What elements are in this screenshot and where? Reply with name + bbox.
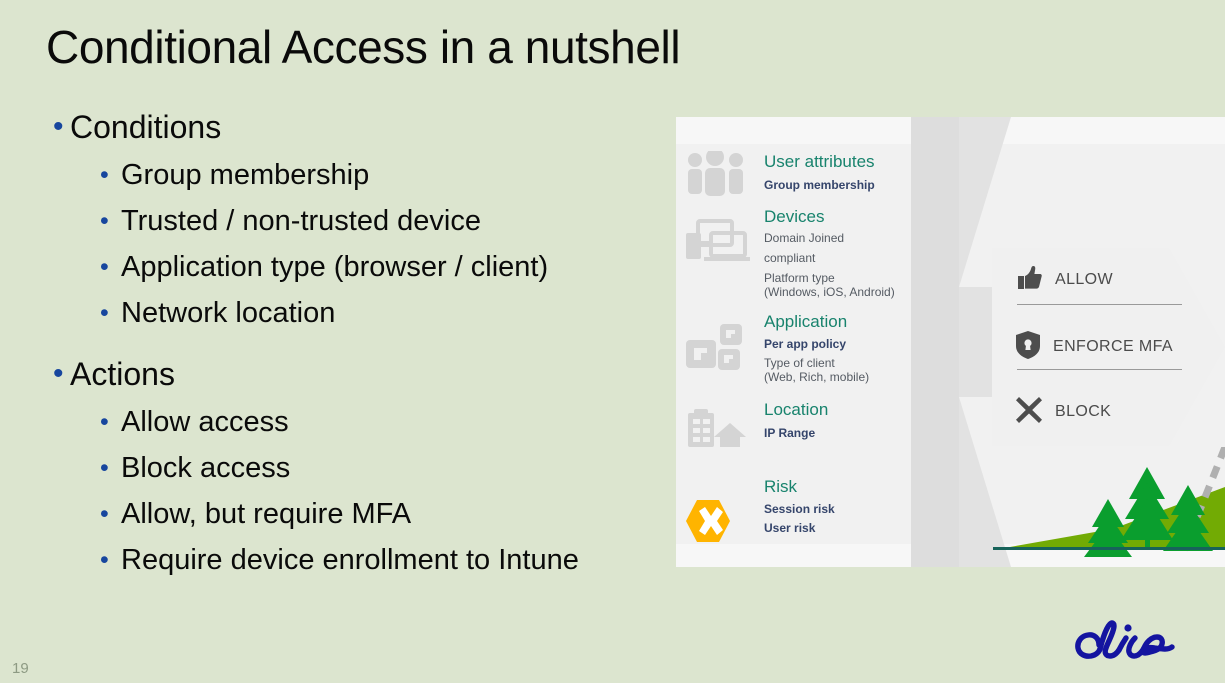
location-icon xyxy=(684,407,748,456)
list-item: • Group membership xyxy=(94,153,704,198)
bullet-dot-icon: • xyxy=(94,245,121,290)
bullet-dot-icon: • xyxy=(94,199,121,244)
list-item: • Network location xyxy=(94,291,704,336)
application-icon xyxy=(684,322,748,379)
cross-x-icon xyxy=(1016,397,1042,428)
list-item: • Application type (browser / client) xyxy=(94,245,704,290)
people-icon xyxy=(684,151,746,202)
list-item: • Require device enrollment to Intune xyxy=(94,538,704,583)
section-gap xyxy=(44,337,704,350)
action-label: BLOCK xyxy=(1055,403,1111,421)
bullet-dot-icon: • xyxy=(44,350,70,398)
condition-detail: User risk xyxy=(764,520,815,536)
condition-title: Application xyxy=(764,312,847,332)
bullet-dot-icon: • xyxy=(44,103,70,151)
list-item-label: Block access xyxy=(121,446,290,491)
elisa-logo xyxy=(1073,618,1181,669)
slide-number: 19 xyxy=(12,660,29,677)
condition-title: User attributes xyxy=(764,152,875,172)
condition-detail: Type of client xyxy=(764,356,835,371)
condition-title: Risk xyxy=(764,477,797,497)
list-item: • Allow, but require MFA xyxy=(94,492,704,537)
list-item: • Block access xyxy=(94,446,704,491)
action-divider xyxy=(1017,304,1182,305)
thumbs-up-icon xyxy=(1016,266,1042,295)
bullet-level1-actions: • Actions xyxy=(44,350,704,398)
condition-detail: (Windows, iOS, Android) xyxy=(764,285,895,300)
condition-detail: IP Range xyxy=(764,425,815,441)
list-item-label: Network location xyxy=(121,291,335,336)
list-item-label: Application type (browser / client) xyxy=(121,245,548,290)
list-item-label: Allow, but require MFA xyxy=(121,492,411,537)
condition-title: Location xyxy=(764,400,828,420)
condition-detail: (Web, Rich, mobile) xyxy=(764,370,869,385)
bullet-level1-label: Actions xyxy=(70,350,175,398)
condition-title: Devices xyxy=(764,207,824,227)
bullet-dot-icon: • xyxy=(94,492,121,537)
action-divider xyxy=(1017,369,1182,370)
action-block[interactable]: BLOCK xyxy=(1016,389,1111,435)
action-label: ENFORCE MFA xyxy=(1053,338,1173,356)
action-enforce-mfa[interactable]: ENFORCE MFA xyxy=(1016,324,1173,370)
elisa-logo-svg xyxy=(1073,618,1181,664)
bullet-dot-icon: • xyxy=(94,446,121,491)
condition-detail: Session risk xyxy=(764,501,835,517)
list-item-label: Allow access xyxy=(121,400,289,445)
bullet-body: • Conditions • Group membership • Truste… xyxy=(44,103,704,584)
page-title: Conditional Access in a nutshell xyxy=(46,20,680,74)
shield-lock-icon xyxy=(1016,331,1040,364)
condition-detail: Domain Joined xyxy=(764,231,844,246)
list-item: • Trusted / non-trusted device xyxy=(94,199,704,244)
slide-canvas: Conditional Access in a nutshell • Condi… xyxy=(0,0,1225,683)
diagram-divider-slab xyxy=(911,117,959,567)
bullet-dot-icon: • xyxy=(94,291,121,336)
condition-detail: compliant xyxy=(764,251,815,266)
condition-detail: Group membership xyxy=(764,177,875,193)
action-label: ALLOW xyxy=(1055,271,1113,289)
list-item: • Allow access xyxy=(94,400,704,445)
list-item-label: Trusted / non-trusted device xyxy=(121,199,481,244)
list-item-label: Group membership xyxy=(121,153,369,198)
devices-icon xyxy=(684,219,750,272)
diagram-baseline-rule xyxy=(993,547,1225,550)
list-item-label: Require device enrollment to Intune xyxy=(121,538,579,583)
bullet-dot-icon: • xyxy=(94,538,121,583)
condition-detail: Per app policy xyxy=(764,336,846,352)
condition-detail: Platform type xyxy=(764,271,835,286)
action-allow[interactable]: ALLOW xyxy=(1016,257,1113,303)
bullet-level1-label: Conditions xyxy=(70,103,221,151)
bullet-level1-conditions: • Conditions xyxy=(44,103,704,151)
bullet-dot-icon: • xyxy=(94,153,121,198)
conditional-access-diagram: User attributes Group membership Devices… xyxy=(676,117,1225,567)
bullet-dot-icon: • xyxy=(94,400,121,445)
risk-hexagon-icon xyxy=(685,499,731,548)
